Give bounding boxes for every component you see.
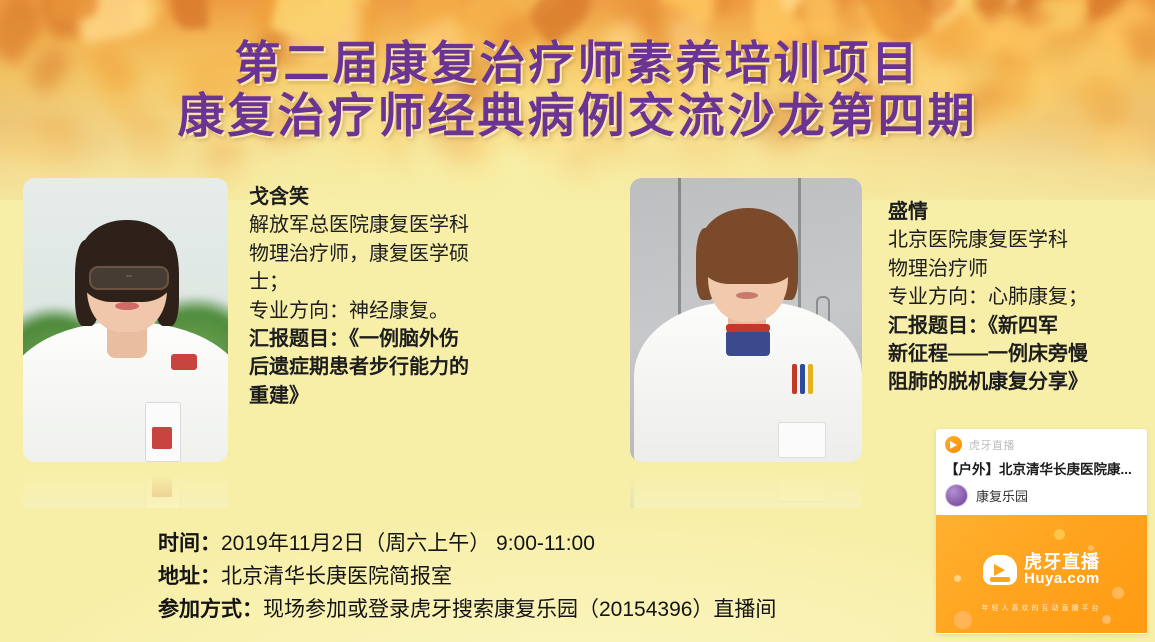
speaker-left-line-4: 汇报题目：《一例脑外伤 [249, 325, 469, 353]
event-join-label: 参加方式： [158, 598, 263, 621]
huya-live-card[interactable]: 虎牙直播 【户外】北京清华长庚医院康... 康复乐园 虎牙直播 Huya.com… [936, 429, 1147, 634]
huya-channel-avatar [945, 484, 968, 507]
huya-channel-name: 康复乐园 [976, 486, 1028, 505]
speaker-right-line-4: 新征程——一例床旁慢 [888, 340, 1088, 368]
speaker-photo-right-reflection [630, 462, 862, 508]
event-info-row-time: 时间：2019年11月2日（周六上午） 9:00-11:00 [158, 528, 776, 561]
speaker-name-right: 盛情 [888, 198, 1088, 226]
huya-tiger-icon [983, 555, 1017, 585]
speaker-info-left: 戈含笑 解放军总医院康复医学科 物理治疗师，康复医学硕 士； 专业方向：神经康复… [249, 183, 469, 410]
event-info-row-address: 地址：北京清华长庚医院简报室 [158, 561, 776, 594]
speaker-photo-right [630, 178, 862, 462]
huya-card-header: 虎牙直播 [936, 429, 1147, 457]
speaker-right-line-5: 阻肺的脱机康复分享》 [888, 368, 1088, 396]
huya-wordmark-en: Huya.com [1024, 571, 1100, 586]
speaker-left-line-3: 专业方向：神经康复。 [249, 297, 469, 325]
event-time-label: 时间： [158, 532, 221, 555]
huya-play-icon [945, 436, 962, 453]
huya-room-title[interactable]: 【户外】北京清华长庚医院康... [936, 457, 1147, 484]
event-info-block: 时间：2019年11月2日（周六上午） 9:00-11:00 地址：北京清华长庚… [158, 528, 776, 626]
speaker-photo-left [23, 178, 228, 462]
speaker-left-line-2: 士； [249, 268, 469, 296]
event-time-value: 2019年11月2日（周六上午） 9:00-11:00 [221, 532, 595, 555]
poster-canvas: 第二届康复治疗师素养培训项目 康复治疗师经典病例交流沙龙第四期 戈含笑 解放军总… [0, 0, 1155, 642]
speaker-right-line-0: 北京医院康复医学科 [888, 226, 1088, 254]
huya-wordmark-group: 虎牙直播 Huya.com [936, 553, 1147, 586]
title-line-1: 第二届康复治疗师素养培训项目 [0, 38, 1155, 90]
speaker-left-line-6: 重建》 [249, 382, 469, 410]
speaker-right-line-1: 物理治疗师 [888, 255, 1088, 283]
huya-slogan: 年轻人喜欢的互动直播平台 [936, 603, 1147, 613]
event-address-label: 地址： [158, 565, 221, 588]
huya-thumbnail[interactable]: 虎牙直播 Huya.com 年轻人喜欢的互动直播平台 [936, 515, 1147, 633]
speaker-info-right: 盛情 北京医院康复医学科 物理治疗师 专业方向：心肺康复； 汇报题目：《新四军 … [888, 198, 1088, 397]
speaker-photo-left-reflection [23, 462, 228, 508]
speaker-left-line-1: 物理治疗师，康复医学硕 [249, 240, 469, 268]
speaker-right-line-2: 专业方向：心肺康复； [888, 283, 1088, 311]
huya-wordmark: 虎牙直播 Huya.com [1024, 553, 1100, 586]
huya-brand-label: 虎牙直播 [969, 437, 1015, 453]
event-join-value: 现场参加或登录虎牙搜索康复乐园（20154396）直播间 [263, 598, 776, 621]
speaker-right-line-3: 汇报题目：《新四军 [888, 312, 1088, 340]
huya-wordmark-cn: 虎牙直播 [1024, 553, 1100, 571]
speaker-left-line-0: 解放军总医院康复医学科 [249, 211, 469, 239]
event-info-row-join: 参加方式：现场参加或登录虎牙搜索康复乐园（20154396）直播间 [158, 594, 776, 627]
poster-title: 第二届康复治疗师素养培训项目 康复治疗师经典病例交流沙龙第四期 [0, 38, 1155, 143]
title-line-2: 康复治疗师经典病例交流沙龙第四期 [0, 90, 1155, 143]
huya-channel-row[interactable]: 康复乐园 [936, 484, 1147, 515]
event-address-value: 北京清华长庚医院简报室 [221, 565, 452, 588]
speaker-left-line-5: 后遗症期患者步行能力的 [249, 353, 469, 381]
speaker-name-left: 戈含笑 [249, 183, 469, 211]
